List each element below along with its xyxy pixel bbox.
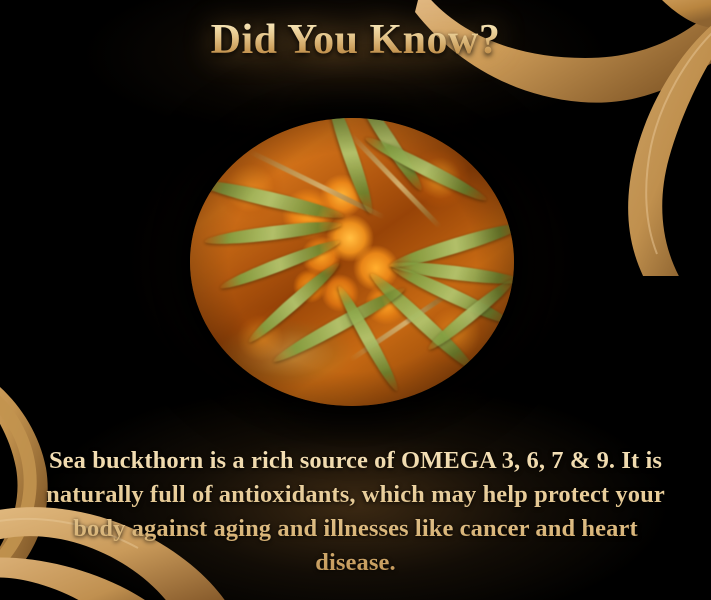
poster-canvas: Did You Know? Sea buckthorn is a rich so… — [0, 0, 711, 600]
ribbon-highlight — [646, 32, 711, 254]
leaf — [196, 174, 345, 225]
photo-berries-background — [190, 118, 514, 406]
body-text: Sea buckthorn is a rich source of OMEGA … — [30, 444, 681, 580]
page-title: Did You Know? — [211, 18, 501, 63]
sea-buckthorn-photo — [190, 118, 514, 406]
body-text-container: Sea buckthorn is a rich source of OMEGA … — [30, 444, 681, 580]
title-container: Did You Know? — [0, 18, 711, 63]
ribbon-loop-inner — [0, 394, 30, 568]
leaf — [218, 237, 343, 293]
